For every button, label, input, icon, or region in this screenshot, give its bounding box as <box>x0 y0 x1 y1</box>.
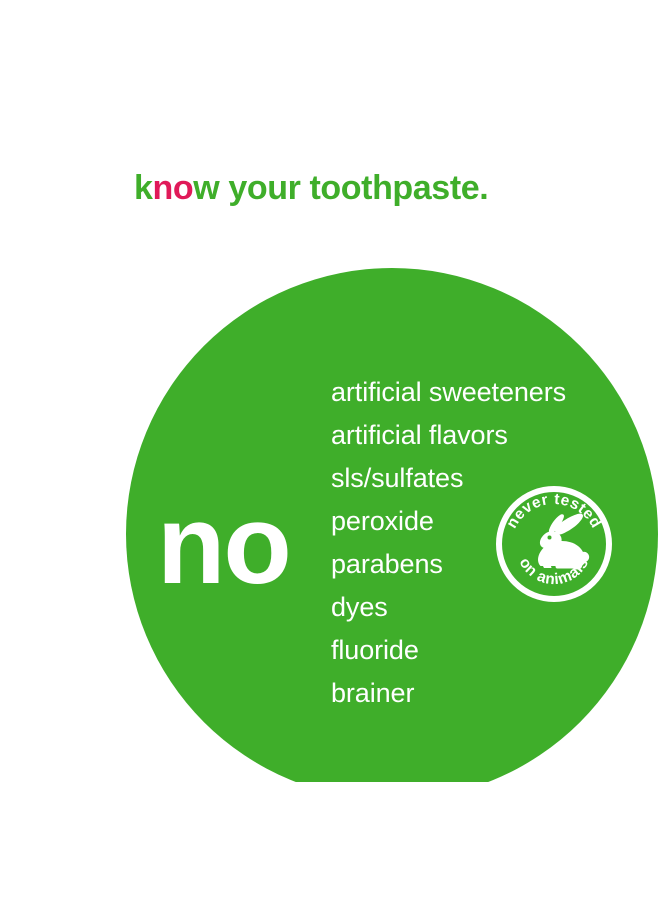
cruelty-free-badge: never tested on animals <box>494 484 614 604</box>
rabbit-icon <box>538 514 589 570</box>
list-item: fluoride <box>331 629 566 672</box>
list-item: brainer <box>331 672 566 715</box>
no-label: no <box>157 489 290 601</box>
list-item: artificial flavors <box>331 414 566 457</box>
page-title: know your toothpaste. <box>134 168 488 208</box>
product-callout-page: know your toothpaste. no artificial swee… <box>0 0 660 900</box>
list-item: artificial sweeteners <box>331 371 566 414</box>
cruelty-free-badge-graphic: never tested on animals <box>494 484 614 604</box>
headline-accent-no: no <box>153 169 194 207</box>
headline-segment-1: k <box>134 169 153 207</box>
headline-segment-2: w your toothpaste. <box>193 169 488 207</box>
